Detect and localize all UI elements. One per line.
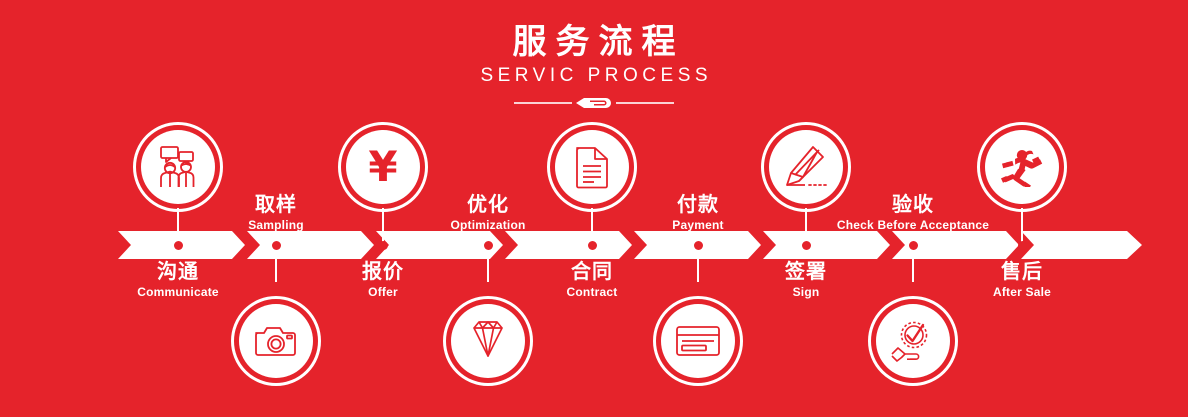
step-label-cn: 报价 — [283, 259, 483, 283]
yen-currency-icon: ¥ — [346, 130, 420, 204]
step-label-after-sale: 售后 After Sale — [922, 259, 1122, 300]
page-title-english: SERVIC PROCESS — [0, 64, 1188, 88]
page-title-chinese: 服务流程 — [0, 22, 1188, 62]
credit-card-icon — [661, 304, 735, 378]
step-icon-circle-contract[interactable] — [547, 122, 637, 212]
header: 服务流程 SERVIC PROCESS — [0, 22, 1188, 110]
step-label-cn: 沟通 — [78, 259, 278, 283]
pencil-signature-icon — [769, 130, 843, 204]
step-label-cn: 合同 — [492, 259, 692, 283]
service-process-infographic: 服务流程 SERVIC PROCESS — [0, 0, 1188, 417]
step-label-sampling: 取样 Sampling — [176, 192, 376, 233]
step-label-en: Offer — [283, 285, 483, 300]
step-icon-circle-sign[interactable] — [761, 122, 851, 212]
paperclip-ornament-icon — [514, 96, 674, 110]
camera-icon — [239, 304, 313, 378]
step-label-en: Communicate — [78, 285, 278, 300]
step-label-en: Contract — [492, 285, 692, 300]
step-icon-circle-sampling[interactable] — [231, 296, 321, 386]
step-label-sign: 签署 Sign — [706, 259, 906, 300]
diamond-icon — [451, 304, 525, 378]
step-icon-circle-optimization[interactable] — [443, 296, 533, 386]
people-talking-icon — [141, 130, 215, 204]
delivery-runner-icon — [985, 130, 1059, 204]
step-label-communicate: 沟通 Communicate — [78, 259, 278, 300]
yen-glyph: ¥ — [368, 146, 397, 188]
step-label-cn: 付款 — [598, 192, 798, 216]
step-label-en: Sign — [706, 285, 906, 300]
step-label-payment: 付款 Payment — [598, 192, 798, 233]
hand-checkmark-badge-icon — [876, 304, 950, 378]
step-icon-circle-offer[interactable]: ¥ — [338, 122, 428, 212]
step-label-cn: 售后 — [922, 259, 1122, 283]
step-label-cn: 优化 — [388, 192, 588, 216]
step-icon-circle-check-before-acceptance[interactable] — [868, 296, 958, 386]
step-icon-circle-payment[interactable] — [653, 296, 743, 386]
step-label-en: After Sale — [922, 285, 1122, 300]
step-label-cn: 签署 — [706, 259, 906, 283]
step-label-cn: 取样 — [176, 192, 376, 216]
step-label-cn: 验收 — [813, 192, 1013, 216]
step-icon-circle-after-sale[interactable] — [977, 122, 1067, 212]
step-label-offer: 报价 Offer — [283, 259, 483, 300]
step-label-optimization: 优化 Optimization — [388, 192, 588, 233]
step-label-contract: 合同 Contract — [492, 259, 692, 300]
process-arrow-band — [118, 231, 1142, 259]
step-icon-circle-communicate[interactable] — [133, 122, 223, 212]
document-icon — [555, 130, 629, 204]
step-label-check-before-acceptance: 验收 Check Before Acceptance — [813, 192, 1013, 233]
title-divider — [0, 96, 1188, 110]
